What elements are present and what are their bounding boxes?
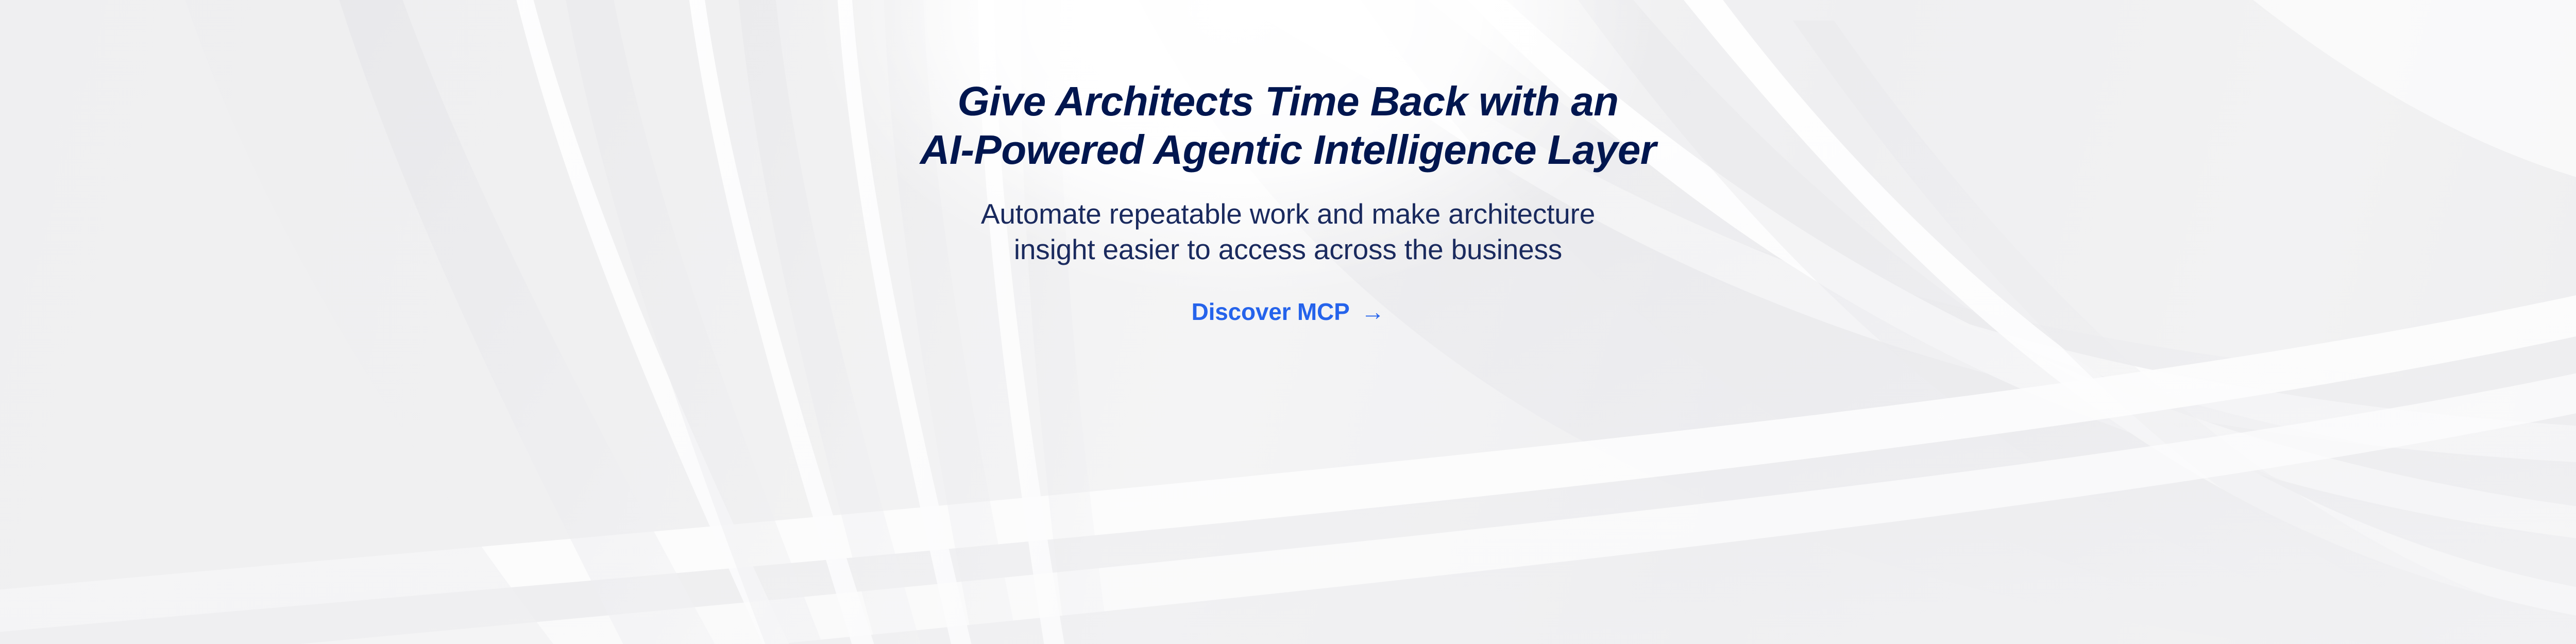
discover-mcp-link[interactable]: Discover MCP → (1192, 300, 1385, 324)
headline-line-2: AI-Powered Agentic Intelligence Layer (920, 126, 1656, 174)
subheading-line-2: insight easier to access across the busi… (1014, 232, 1562, 267)
arrow-right-icon: → (1361, 300, 1385, 324)
promo-banner: Give Architects Time Back with an AI-Pow… (0, 0, 2576, 644)
banner-content: Give Architects Time Back with an AI-Pow… (0, 0, 2576, 644)
headline-line-1: Give Architects Time Back with an (958, 77, 1619, 126)
discover-mcp-label: Discover MCP (1192, 300, 1350, 324)
subheading-line-1: Automate repeatable work and make archit… (981, 196, 1595, 232)
